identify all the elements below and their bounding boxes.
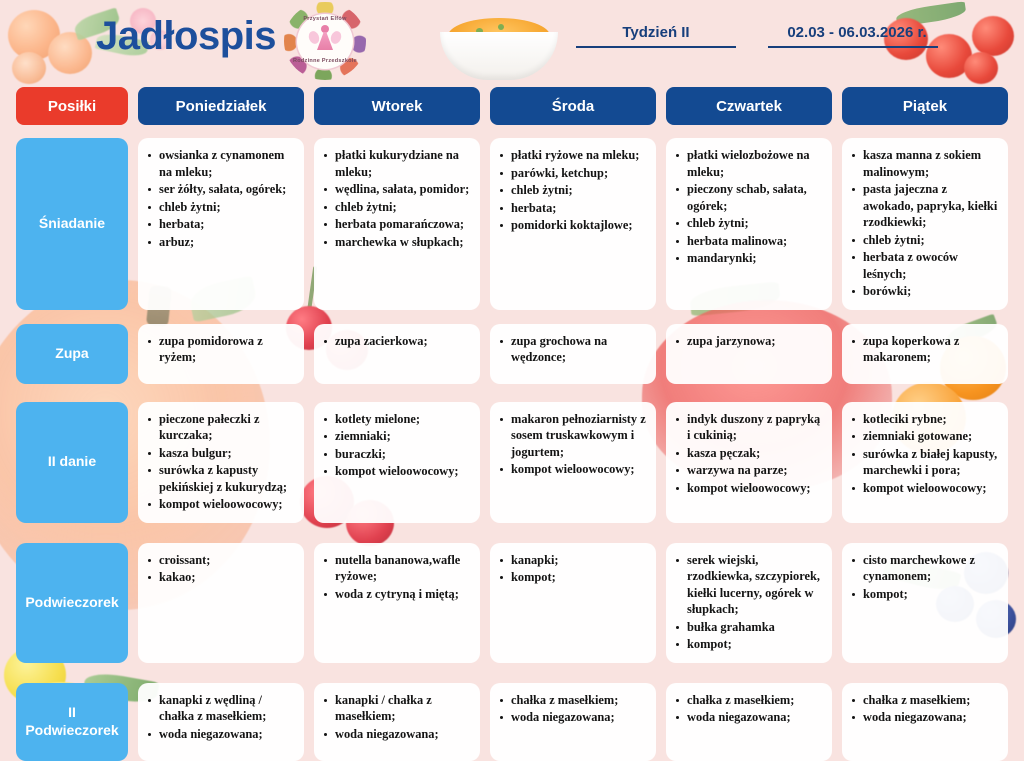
- kindergarten-logo: Przystań Elfów Rodzinne Przedszkole: [284, 2, 366, 80]
- menu-cell-main-monday: pieczone pałeczki z kurczaka;kasza bulgu…: [138, 402, 304, 523]
- meal-label-soup: Zupa: [16, 324, 128, 384]
- menu-item: kompot wieloowocowy;: [674, 480, 822, 497]
- menu-cell-main-tuesday: kotlety mielone;ziemniaki;buraczki;kompo…: [314, 402, 480, 523]
- week-underline: [576, 46, 736, 48]
- meal-label-main-course: II danie: [16, 402, 128, 523]
- menu-item: herbata;: [146, 216, 294, 233]
- menu-item: kanapki z wędliną / chałka z masełkiem;: [146, 692, 294, 725]
- menu-item: ser żółty, sałata, ogórek;: [146, 181, 294, 198]
- menu-cell-breakfast-thursday: płatki wielozbożowe na mleku;pieczony sc…: [666, 138, 832, 310]
- menu-item: kasza bulgur;: [146, 445, 294, 462]
- menu-item: kompot;: [850, 586, 998, 603]
- menu-cell-snack-tuesday: nutella bananowa,wafle ryżowe;woda z cyt…: [314, 543, 480, 663]
- header-cell-friday: Piątek: [842, 87, 1008, 125]
- menu-item: zupa jarzynowa;: [674, 333, 822, 350]
- date-range-indicator: 02.03 - 06.03.2026 r.: [768, 24, 946, 48]
- menu-item: zupa zacierkowa;: [322, 333, 470, 350]
- menu-item: kanapki / chałka z masełkiem;: [322, 692, 470, 725]
- menu-item: zupa koperkowa z makaronem;: [850, 333, 998, 366]
- table-row-breakfast: Śniadanie owsianka z cynamonem na mleku;…: [0, 138, 1024, 310]
- page-header: Jadłospis Przystań Elfów Rodzinne Przeds…: [0, 0, 1024, 82]
- menu-item: chleb żytni;: [674, 215, 822, 232]
- menu-item: pieczony schab, sałata, ogórek;: [674, 181, 822, 214]
- table-header-row: Posiłki Poniedziałek Wtorek Środa Czwart…: [0, 82, 1024, 130]
- menu-item: płatki ryżowe na mleku;: [498, 147, 646, 164]
- table-row-snack: Podwieczorek croissant;kakao; nutella ba…: [0, 543, 1024, 663]
- menu-item: woda z cytryną i miętą;: [322, 586, 470, 603]
- table-row-second-snack: II Podwieczorek kanapki z wędliną / chał…: [0, 683, 1024, 761]
- menu-table: Posiłki Poniedziałek Wtorek Środa Czwart…: [0, 82, 1024, 761]
- menu-item: herbata pomarańczowa;: [322, 216, 470, 233]
- menu-item: pieczone pałeczki z kurczaka;: [146, 411, 294, 444]
- menu-item: chleb żytni;: [322, 199, 470, 216]
- menu-cell-main-friday: kotleciki rybne;ziemniaki gotowane;surów…: [842, 402, 1008, 523]
- menu-item: chałka z masełkiem;: [850, 692, 998, 709]
- menu-cell-snack-friday: cisto marchewkowe z cynamonem;kompot;: [842, 543, 1008, 663]
- menu-item: surówka z białej kapusty, marchewki i po…: [850, 446, 998, 479]
- menu-item: herbata z owoców leśnych;: [850, 249, 998, 282]
- menu-item: arbuz;: [146, 234, 294, 251]
- menu-item: kotlety mielone;: [322, 411, 470, 428]
- meal-label-breakfast: Śniadanie: [16, 138, 128, 310]
- menu-item: płatki kukurydziane na mleku;: [322, 147, 470, 180]
- menu-item: herbata malinowa;: [674, 233, 822, 250]
- menu-item: marchewka w słupkach;: [322, 234, 470, 251]
- menu-cell-snack-monday: croissant;kakao;: [138, 543, 304, 663]
- menu-cell-second-snack-wednesday: chałka z masełkiem;woda niegazowana;: [490, 683, 656, 761]
- menu-cell-soup-monday: zupa pomidorowa z ryżem;: [138, 324, 304, 384]
- menu-item: pomidorki koktajlowe;: [498, 217, 646, 234]
- menu-item: ziemniaki;: [322, 428, 470, 445]
- header-cell-tuesday: Wtorek: [314, 87, 480, 125]
- menu-item: kanapki;: [498, 552, 646, 569]
- menu-item: cisto marchewkowe z cynamonem;: [850, 552, 998, 585]
- date-range-label: 02.03 - 06.03.2026 r.: [768, 24, 946, 46]
- menu-cell-snack-wednesday: kanapki;kompot;: [490, 543, 656, 663]
- menu-item: woda niegazowana;: [850, 709, 998, 726]
- menu-item: kasza manna z sokiem malinowym;: [850, 147, 998, 180]
- menu-item: chleb żytni;: [146, 199, 294, 216]
- menu-item: płatki wielozbożowe na mleku;: [674, 147, 822, 180]
- fairy-icon: [308, 24, 342, 60]
- header-cell-monday: Poniedziałek: [138, 87, 304, 125]
- menu-item: kotleciki rybne;: [850, 411, 998, 428]
- table-row-soup: Zupa zupa pomidorowa z ryżem; zupa zacie…: [0, 324, 1024, 384]
- menu-item: mandarynki;: [674, 250, 822, 267]
- menu-item: ziemniaki gotowane;: [850, 428, 998, 445]
- menu-cell-second-snack-monday: kanapki z wędliną / chałka z masełkiem;w…: [138, 683, 304, 761]
- menu-cell-main-thursday: indyk duszony z papryką i cukinią;kasza …: [666, 402, 832, 523]
- menu-cell-main-wednesday: makaron pełnoziarnisty z sosem truskawko…: [490, 402, 656, 523]
- logo-bottom-text: Rodzinne Przedszkole: [284, 58, 366, 64]
- menu-item: wędlina, sałata, pomidor;: [322, 181, 470, 198]
- menu-cell-second-snack-tuesday: kanapki / chałka z masełkiem;woda niegaz…: [314, 683, 480, 761]
- menu-item: pasta jajeczna z awokado, papryka, kiełk…: [850, 181, 998, 231]
- menu-item: chleb żytni;: [850, 232, 998, 249]
- week-label: Tydzień II: [576, 24, 736, 46]
- menu-item: kakao;: [146, 569, 294, 586]
- menu-item: buraczki;: [322, 446, 470, 463]
- menu-item: borówki;: [850, 283, 998, 300]
- menu-cell-breakfast-wednesday: płatki ryżowe na mleku;parówki, ketchup;…: [490, 138, 656, 310]
- menu-item: kompot wieloowocowy;: [850, 480, 998, 497]
- menu-item: croissant;: [146, 552, 294, 569]
- menu-item: serek wiejski, rzodkiewka, szczypiorek, …: [674, 552, 822, 618]
- fairy-wing-icon: [329, 30, 343, 46]
- menu-cell-second-snack-friday: chałka z masełkiem;woda niegazowana;: [842, 683, 1008, 761]
- menu-item: nutella bananowa,wafle ryżowe;: [322, 552, 470, 585]
- menu-cell-second-snack-thursday: chałka z masełkiem;woda niegazowana;: [666, 683, 832, 761]
- soup-bowl-icon: [440, 2, 558, 80]
- menu-item: makaron pełnoziarnisty z sosem truskawko…: [498, 411, 646, 461]
- meal-label-second-snack: II Podwieczorek: [16, 683, 128, 761]
- menu-item: indyk duszony z papryką i cukinią;: [674, 411, 822, 444]
- menu-cell-breakfast-tuesday: płatki kukurydziane na mleku;wędlina, sa…: [314, 138, 480, 310]
- header-cell-wednesday: Środa: [490, 87, 656, 125]
- soup-bowl-shape: [440, 32, 558, 80]
- logo-top-text: Przystań Elfów: [284, 16, 366, 22]
- menu-item: kompot;: [674, 636, 822, 653]
- menu-cell-soup-thursday: zupa jarzynowa;: [666, 324, 832, 384]
- table-row-main-course: II danie pieczone pałeczki z kurczaka;ka…: [0, 402, 1024, 523]
- menu-item: bułka grahamka: [674, 619, 822, 636]
- menu-item: surówka z kapusty pekińskiej z kukurydzą…: [146, 462, 294, 495]
- menu-cell-soup-tuesday: zupa zacierkowa;: [314, 324, 480, 384]
- meal-label-snack: Podwieczorek: [16, 543, 128, 663]
- menu-item: warzywa na parze;: [674, 462, 822, 479]
- menu-cell-soup-wednesday: zupa grochowa na wędzonce;: [490, 324, 656, 384]
- week-indicator: Tydzień II: [576, 24, 736, 48]
- menu-item: parówki, ketchup;: [498, 165, 646, 182]
- menu-item: kompot;: [498, 569, 646, 586]
- menu-item: woda niegazowana;: [146, 726, 294, 743]
- menu-item: woda niegazowana;: [322, 726, 470, 743]
- header-cell-thursday: Czwartek: [666, 87, 832, 125]
- menu-item: woda niegazowana;: [498, 709, 646, 726]
- menu-item: chałka z masełkiem;: [498, 692, 646, 709]
- date-underline: [768, 46, 938, 48]
- menu-item: kasza pęczak;: [674, 445, 822, 462]
- menu-item: kompot wieloowocowy;: [498, 461, 646, 478]
- soup-garnish: [498, 24, 504, 30]
- header-cell-meals: Posiłki: [16, 87, 128, 125]
- menu-item: zupa pomidorowa z ryżem;: [146, 333, 294, 366]
- menu-item: kompot wieloowocowy;: [146, 496, 294, 513]
- menu-cell-snack-thursday: serek wiejski, rzodkiewka, szczypiorek, …: [666, 543, 832, 663]
- menu-item: chałka z masełkiem;: [674, 692, 822, 709]
- menu-item: chleb żytni;: [498, 182, 646, 199]
- fairy-wing-icon: [307, 30, 321, 46]
- menu-item: owsianka z cynamonem na mleku;: [146, 147, 294, 180]
- menu-item: zupa grochowa na wędzonce;: [498, 333, 646, 366]
- menu-item: kompot wieloowocowy;: [322, 463, 470, 480]
- menu-cell-soup-friday: zupa koperkowa z makaronem;: [842, 324, 1008, 384]
- menu-cell-breakfast-monday: owsianka z cynamonem na mleku;ser żółty,…: [138, 138, 304, 310]
- menu-item: woda niegazowana;: [674, 709, 822, 726]
- menu-item: herbata;: [498, 200, 646, 217]
- page-title: Jadłospis: [96, 14, 276, 59]
- menu-cell-breakfast-friday: kasza manna z sokiem malinowym;pasta jaj…: [842, 138, 1008, 310]
- fairy-head-icon: [321, 25, 329, 33]
